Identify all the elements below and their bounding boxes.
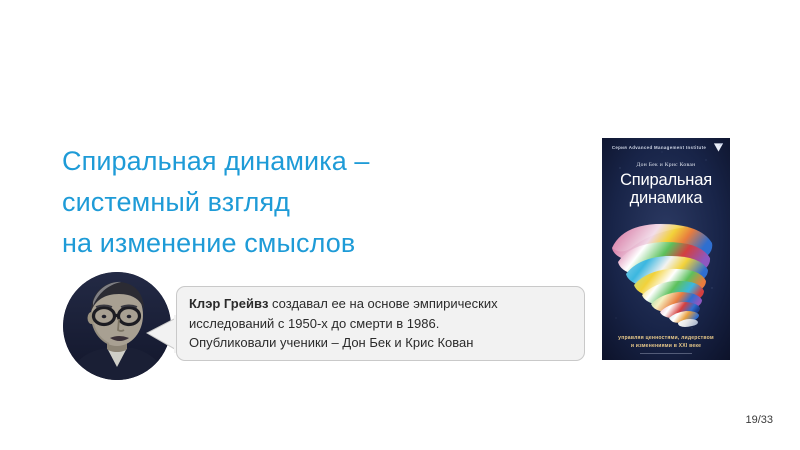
callout-line-1-rest: создавал ее на основе эмпирических bbox=[268, 296, 497, 311]
book-subtitle-line-1: управляя ценностями, лидерством bbox=[608, 335, 724, 342]
book-divider bbox=[640, 353, 691, 354]
book-authors-text: Дон Бек и Крис Кован bbox=[602, 162, 730, 168]
book-title-text: Спиральная динамика bbox=[602, 171, 730, 207]
callout-line-1: Клэр Грейвз создавал ее на основе эмпири… bbox=[189, 294, 577, 314]
spiral-cone-illustration bbox=[604, 210, 728, 332]
callout-text: Клэр Грейвз создавал ее на основе эмпири… bbox=[189, 294, 577, 353]
title-line-1: Спиральная динамика – bbox=[62, 141, 462, 182]
callout-line-2: исследований с 1950-х до смерти в 1986. bbox=[189, 314, 577, 334]
title-line-2: системный взгляд bbox=[62, 182, 462, 223]
callout-line-3: Опубликовали ученики – Дон Бек и Крис Ко… bbox=[189, 333, 577, 353]
slide-canvas: Спиральная динамика – системный взгляд н… bbox=[0, 0, 800, 450]
book-cover-image: Серия Advanced Management Institute Дон … bbox=[602, 138, 730, 360]
book-title-line-2: динамика bbox=[602, 189, 730, 207]
callout-bold-name: Клэр Грейвз bbox=[189, 296, 268, 311]
book-title-line-1: Спиральная bbox=[602, 171, 730, 189]
callout-bubble: Клэр Грейвз создавал ее на основе эмпири… bbox=[176, 286, 585, 361]
book-series-text: Серия Advanced Management Institute bbox=[602, 145, 716, 150]
book-subtitle-text: управляя ценностями, лидерством и измене… bbox=[608, 335, 724, 350]
slide-number: 19/33 bbox=[745, 414, 773, 426]
title-line-3: на изменение смыслов bbox=[62, 223, 462, 264]
book-subtitle-line-2: и изменениями в XXI веке bbox=[608, 343, 724, 350]
callout-tail-icon bbox=[146, 314, 180, 354]
page-title: Спиральная динамика – системный взгляд н… bbox=[62, 141, 462, 264]
